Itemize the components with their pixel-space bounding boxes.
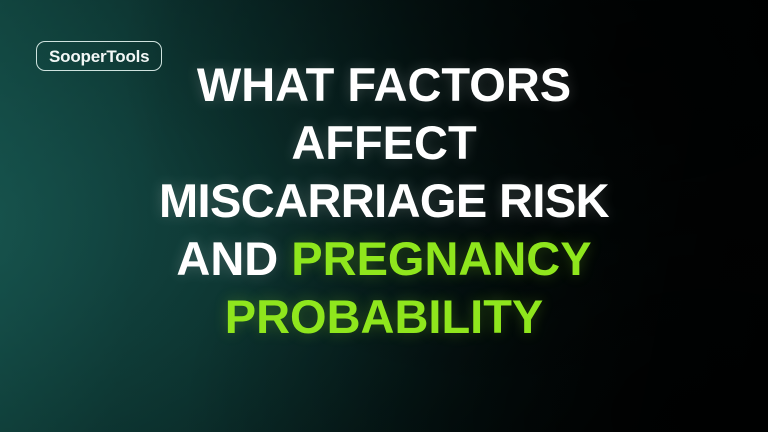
thumbnail-canvas: SooperTools WHAT FACTORSAFFECTMISCARRIAG… [0,0,768,432]
headline-segment-1-1: WHAT FACTORS [197,58,571,111]
headline-segment-4-2-accent: PREGNANCY [291,232,591,285]
headline-line-5: PROBABILITY [26,288,742,346]
headline-segment-2-1: AFFECT [291,116,476,169]
headline-line-4: AND PREGNANCY [26,230,742,288]
headline-line-2: AFFECT [26,114,742,172]
headline-segment-3-1: MISCARRIAGE RISK [159,174,609,227]
headline-segment-5-1-accent: PROBABILITY [225,290,544,343]
headline-line-3: MISCARRIAGE RISK [26,172,742,230]
headline-line-1: WHAT FACTORS [26,56,742,114]
headline-segment-4-1: AND [176,232,291,285]
headline-block: WHAT FACTORSAFFECTMISCARRIAGE RISKAND PR… [0,56,768,346]
